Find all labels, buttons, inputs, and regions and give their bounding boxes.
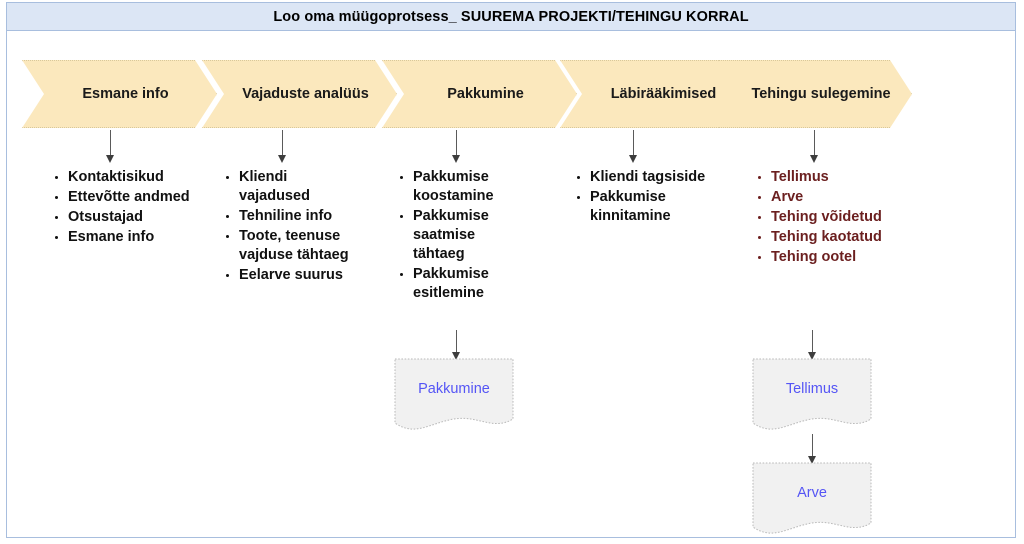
list-item: Tehniline info: [237, 207, 361, 226]
connector-arrow-stage-3: [452, 130, 461, 163]
document-shape-tellimus[interactable]: Tellimus: [752, 358, 872, 434]
list-item: Pakkumise saatmise tähtaeg: [411, 207, 520, 264]
connector-arrow-doc-arve: [808, 434, 817, 464]
process-stage-band: Esmane info Vajaduste analüüs Pakkumine …: [22, 60, 912, 128]
list-item: Kontaktisikud: [66, 168, 200, 187]
stage-chevron-1[interactable]: Esmane info: [22, 60, 217, 128]
list-item: Otsustajad: [66, 208, 200, 227]
list-item: Arve: [769, 188, 923, 207]
stage-chevron-label-2: Vajaduste analüüs: [230, 86, 369, 102]
list-item: Ettevõtte andmed: [66, 188, 200, 207]
document-label-arve: Arve: [752, 485, 872, 501]
document-shape-pakkumine[interactable]: Pakkumine: [394, 358, 514, 434]
connector-arrow-doc-tellimus: [808, 330, 817, 360]
list-item: Pakkumise kinnitamine: [588, 188, 722, 226]
connector-arrow-stage-5: [810, 130, 819, 163]
stage-bullets-1: Kontaktisikud Ettevõtte andmed Otsustaja…: [50, 168, 200, 248]
stage-chevron-label-4: Läbirääkimised: [599, 86, 717, 102]
stage-bullets-4: Kliendi tagsiside Pakkumise kinnitamine: [572, 168, 722, 227]
connector-arrow-doc-pakkumine: [452, 330, 461, 360]
page-title: Loo oma müügoprotsess_ SUUREMA PROJEKTI/…: [273, 9, 748, 25]
stage-bullets-3: Pakkumise koostamine Pakkumise saatmise …: [395, 168, 520, 304]
connector-arrow-stage-2: [278, 130, 287, 163]
diagram-title-band: Loo oma müügoprotsess_ SUUREMA PROJEKTI/…: [6, 2, 1016, 31]
stage-bullets-5: Tellimus Arve Tehing võidetud Tehing kao…: [753, 168, 923, 268]
connector-arrow-stage-1: [106, 130, 115, 163]
list-item: Kliendi tagsiside: [588, 168, 722, 187]
connector-arrow-stage-4: [629, 130, 638, 163]
diagram-canvas: Loo oma müügoprotsess_ SUUREMA PROJEKTI/…: [0, 0, 1024, 544]
stage-chevron-label-1: Esmane info: [70, 86, 168, 102]
list-item: Pakkumise esitlemine: [411, 265, 520, 303]
list-item: Kliendi vajadused: [237, 168, 361, 206]
stage-chevron-label-5: Tehingu sulegemine: [739, 86, 890, 102]
document-label-pakkumine: Pakkumine: [394, 381, 514, 397]
list-item: Tehing kaotatud: [769, 228, 923, 247]
list-item: Esmane info: [66, 228, 200, 247]
stage-chevron-2[interactable]: Vajaduste analüüs: [202, 60, 397, 128]
stage-chevron-label-3: Pakkumine: [435, 86, 524, 102]
document-label-tellimus: Tellimus: [752, 381, 872, 397]
list-item: Tehing ootel: [769, 248, 923, 267]
stage-chevron-3[interactable]: Pakkumine: [382, 60, 577, 128]
stage-bullets-2: Kliendi vajadused Tehniline info Toote, …: [221, 168, 361, 286]
list-item: Tehing võidetud: [769, 208, 923, 227]
document-shape-arve[interactable]: Arve: [752, 462, 872, 538]
stage-chevron-5[interactable]: Tehingu sulegemine: [718, 60, 912, 128]
list-item: Tellimus: [769, 168, 923, 187]
list-item: Toote, teenuse vajduse tähtaeg: [237, 227, 361, 265]
list-item: Eelarve suurus: [237, 266, 361, 285]
list-item: Pakkumise koostamine: [411, 168, 520, 206]
